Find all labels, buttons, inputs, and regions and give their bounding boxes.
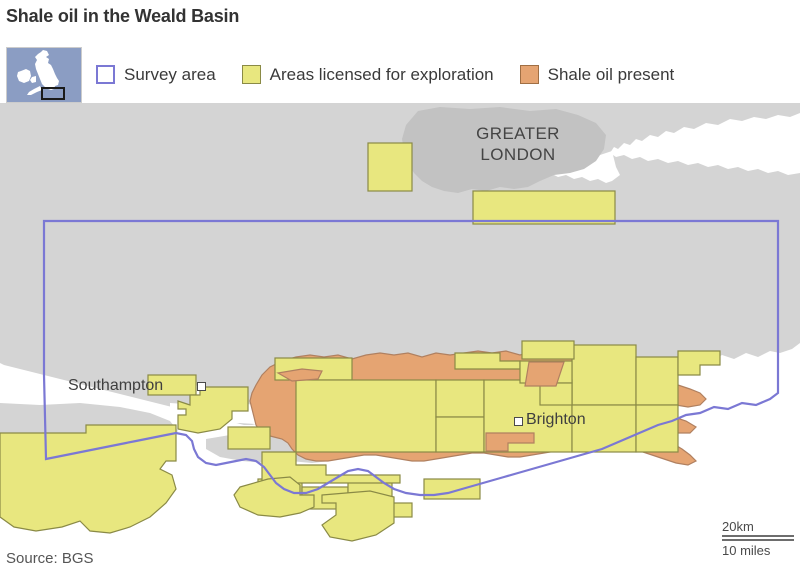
scale-label-miles: 10 miles bbox=[722, 543, 794, 558]
legend-items: Survey area Areas licensed for explorati… bbox=[96, 46, 700, 103]
licensed-block bbox=[473, 191, 615, 224]
legend-label-shale-oil: Shale oil present bbox=[548, 65, 675, 85]
legend-label-survey-area: Survey area bbox=[124, 65, 216, 85]
legend-label-licensed-areas: Areas licensed for exploration bbox=[270, 65, 494, 85]
source-credit: Source: BGS bbox=[6, 550, 94, 567]
legend-item-licensed-areas[interactable]: Areas licensed for exploration bbox=[242, 65, 494, 85]
licensed-block bbox=[522, 341, 574, 359]
page-title: Shale oil in the Weald Basin bbox=[6, 6, 239, 27]
licensed-block bbox=[636, 405, 678, 452]
licensed-block bbox=[0, 425, 176, 533]
scale-bar-lines bbox=[722, 535, 794, 542]
infographic-root: Shale oil in the Weald Basin Survey ar bbox=[0, 0, 800, 579]
licensed-block bbox=[148, 375, 196, 395]
uk-locator-map bbox=[6, 47, 82, 103]
survey-area-swatch bbox=[96, 65, 115, 84]
scale-bar: 20km 10 miles bbox=[722, 519, 794, 558]
licensed-block bbox=[368, 143, 412, 191]
licensed-block bbox=[572, 345, 636, 405]
licensed-block bbox=[636, 357, 678, 405]
licensed-block bbox=[296, 380, 436, 452]
scale-label-km: 20km bbox=[722, 519, 794, 534]
map-canvas[interactable] bbox=[0, 103, 800, 543]
legend-item-shale-oil[interactable]: Shale oil present bbox=[520, 65, 675, 85]
licensed-block bbox=[228, 427, 270, 449]
licensed-area-swatch bbox=[242, 65, 261, 84]
licensed-block bbox=[572, 405, 636, 452]
city-marker-brighton bbox=[514, 417, 523, 426]
shale-oil-swatch bbox=[520, 65, 539, 84]
licensed-block bbox=[436, 380, 484, 417]
city-marker-southampton bbox=[197, 382, 206, 391]
licensed-block bbox=[436, 417, 484, 452]
legend-item-survey-area[interactable]: Survey area bbox=[96, 65, 216, 85]
legend-bar: Survey area Areas licensed for explorati… bbox=[0, 46, 800, 104]
